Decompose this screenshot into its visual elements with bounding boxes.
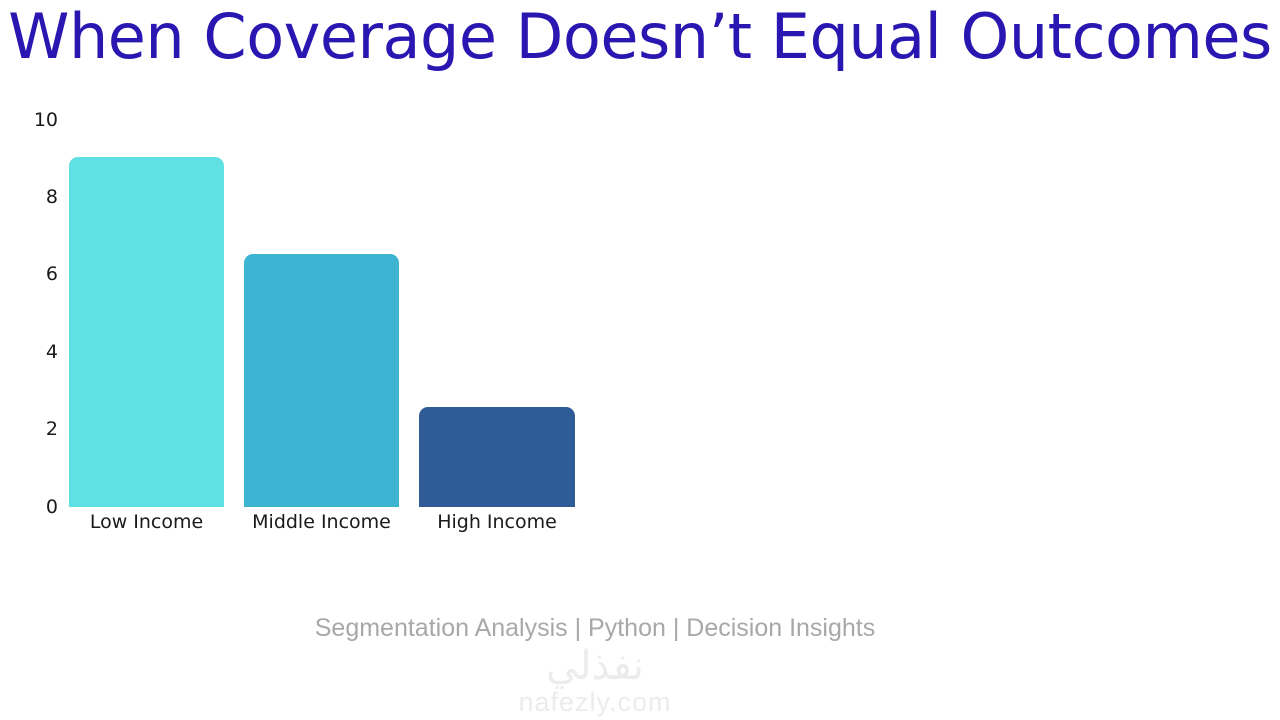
bar-high-income: [419, 407, 575, 507]
watermark-arabic-text: نفذلي: [0, 646, 1190, 686]
watermark-domain-text: nafezly.com: [0, 688, 1190, 718]
watermark: نفذلي nafezly.com: [0, 646, 1190, 718]
y-tick-label-10: 10: [18, 109, 58, 131]
y-tick-label-8: 8: [18, 186, 58, 208]
x-tick-label-high-income: High Income: [419, 511, 575, 533]
y-tick-label-4: 4: [18, 341, 58, 363]
y-tick-label-0: 0: [18, 496, 58, 518]
y-tick-label-6: 6: [18, 263, 58, 285]
footer-caption: Segmentation Analysis | Python | Decisio…: [0, 614, 1190, 643]
bar-low-income: [69, 157, 224, 507]
chart-plot-area: 0 2 4 6 8 10 Low Income Middle Income Hi…: [0, 0, 1280, 560]
x-tick-label-middle-income: Middle Income: [244, 511, 399, 533]
bar-middle-income: [244, 254, 399, 507]
x-tick-label-low-income: Low Income: [69, 511, 224, 533]
y-tick-label-2: 2: [18, 418, 58, 440]
